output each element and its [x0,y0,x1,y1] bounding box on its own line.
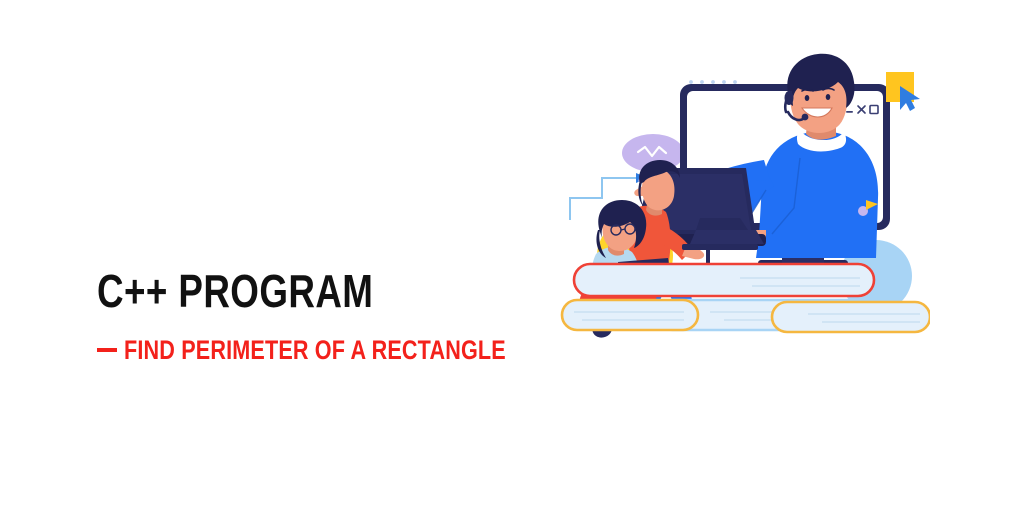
book-gold-right [772,302,930,332]
sticky-note-with-cursor [886,72,920,111]
text-block: C++ Program Find Perimeter of a Rectangl… [97,268,567,364]
page-title: C++ Program [97,268,473,314]
minimize-icon [846,111,853,113]
small-laptop [690,230,764,244]
headset-earpiece [785,91,794,105]
book-red [574,264,874,296]
headset-mic [802,114,809,121]
page-subtitle: Find Perimeter of a Rectangle [124,336,506,364]
online-learning-illustration [560,48,930,348]
poster-canvas: C++ Program Find Perimeter of a Rectangl… [0,0,1024,512]
subtitle-row: Find Perimeter of a Rectangle [97,336,567,364]
book-gold-left [562,300,698,330]
small-laptop-screen [696,218,748,230]
em-dash-divider [97,348,117,352]
desk-top [682,244,758,250]
